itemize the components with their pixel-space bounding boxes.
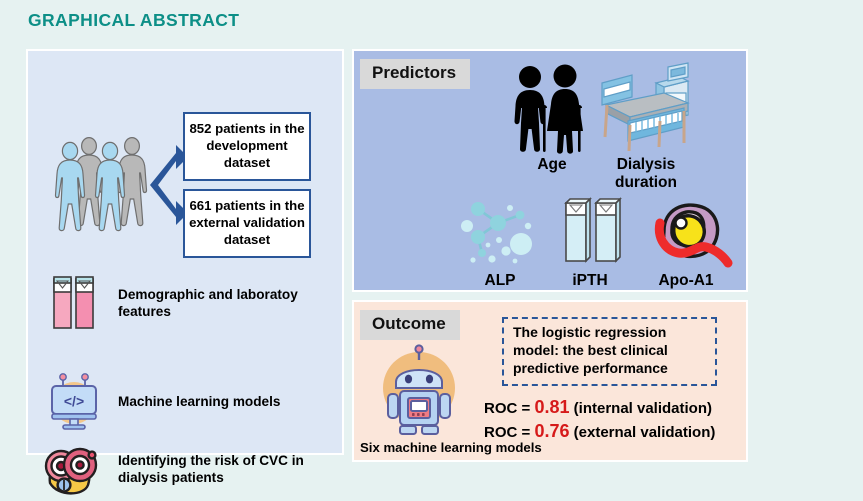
blood-vessel-risk-icon	[42, 439, 108, 501]
predictor-label-alp: ALP	[452, 272, 548, 290]
feature-row-ml: </> Machine learning models	[42, 371, 338, 433]
people-group-icon	[58, 133, 150, 233]
roc-internal-validation: ROC = 0.81 (internal validation)	[484, 397, 712, 418]
predictor-ipth: iPTH	[542, 193, 638, 290]
predictor-age: Age	[506, 63, 598, 174]
study-population-panel: 852 patients in the development dataset …	[26, 49, 344, 455]
roc-external-suffix: (external validation)	[569, 424, 715, 441]
best-model-callout: The logistic regression model: the best …	[502, 317, 717, 386]
graphical-abstract-figure: GRAPHICAL ABSTRACT	[0, 0, 863, 484]
predictor-dialysis-duration: Dialysis duration	[592, 63, 700, 192]
outcome-heading: Outcome	[360, 310, 460, 340]
feature-row-cvc: Identifying the risk of CVC in dialysis …	[42, 439, 338, 501]
dataset-box-development: 852 patients in the development dataset	[183, 112, 311, 181]
six-models-caption: Six machine learning models	[360, 440, 542, 455]
roc-external-validation: ROC = 0.76 (external validation)	[484, 421, 715, 442]
predictor-alp: ALP	[452, 193, 548, 290]
roc-external-prefix: ROC =	[484, 424, 534, 441]
feature-label-lab: Demographic and laboratoy features	[118, 287, 338, 320]
predictors-heading: Predictors	[360, 59, 470, 89]
robot-icon	[376, 344, 462, 438]
predictor-label-ipth: iPTH	[542, 272, 638, 290]
roc-internal-prefix: ROC =	[484, 400, 534, 417]
glomerulus-icon	[636, 193, 736, 271]
roc-external-value: 0.76	[534, 421, 569, 441]
elderly-couple-icon	[506, 63, 598, 155]
feature-label-ml: Machine learning models	[118, 394, 280, 411]
cuvette-samples-icon	[42, 273, 108, 335]
monitor-code-icon: </>	[42, 371, 108, 433]
molecule-icon	[452, 193, 548, 271]
page-title: GRAPHICAL ABSTRACT	[28, 10, 239, 31]
hospital-bed-icon	[592, 63, 700, 155]
feature-row-lab: Demographic and laboratoy features	[42, 273, 338, 335]
outcome-panel: Outcome	[352, 300, 748, 462]
predictor-label-dialysis: Dialysis duration	[592, 156, 700, 192]
predictors-panel: Predictors	[352, 49, 748, 292]
predictor-label-apo: Apo-A1	[636, 272, 736, 290]
predictor-apo-a1: Apo-A1	[636, 193, 736, 290]
dataset-box-external-validation: 661 patients in the external validation …	[183, 189, 311, 258]
cuvette-pair-icon	[542, 193, 638, 271]
roc-internal-suffix: (internal validation)	[569, 400, 712, 417]
roc-internal-value: 0.81	[534, 397, 569, 417]
feature-label-cvc: Identifying the risk of CVC in dialysis …	[118, 453, 338, 486]
predictor-label-age: Age	[506, 156, 598, 174]
svg-text:</>: </>	[64, 393, 84, 409]
